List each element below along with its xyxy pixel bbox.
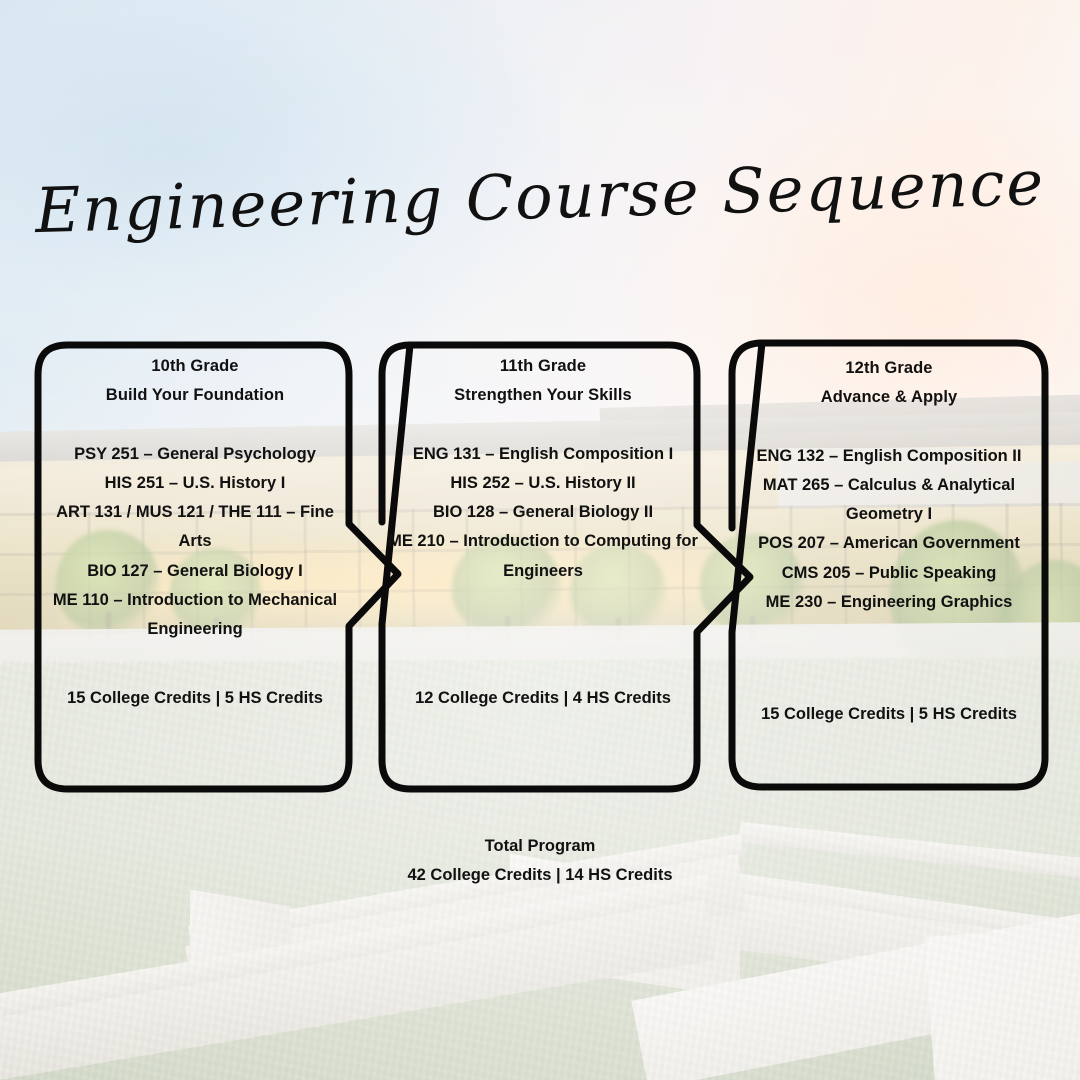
- course-item: ME 230 – Engineering Graphics: [736, 588, 1042, 617]
- stage-3-course-list: ENG 132 – English Composition II MAT 265…: [736, 442, 1042, 617]
- total-program-label: Total Program: [0, 832, 1080, 861]
- total-program-summary: Total Program 42 College Credits | 14 HS…: [0, 832, 1080, 891]
- course-item: POS 207 – American Government: [736, 529, 1042, 558]
- stage-1-tagline: Build Your Foundation: [106, 381, 284, 410]
- course-item: HIS 251 – U.S. History I: [40, 469, 350, 498]
- stage-1-grade: 10th Grade: [106, 352, 284, 381]
- course-item: HIS 252 – U.S. History II: [384, 469, 702, 498]
- course-item: BIO 128 – General Biology II: [384, 498, 702, 527]
- stage-3-grade: 12th Grade: [821, 354, 958, 383]
- course-item: BIO 127 – General Biology I: [40, 557, 350, 586]
- stage-1-credits: 15 College Credits | 5 HS Credits: [40, 689, 350, 708]
- stage-3-heading: 12th Grade Advance & Apply: [821, 354, 958, 412]
- page-title: Engineering Course Sequence: [0, 145, 1080, 248]
- stage-card-11th-grade: 11th Grade Strengthen Your Skills ENG 13…: [384, 352, 702, 586]
- course-item: CMS 205 – Public Speaking: [736, 559, 1042, 588]
- stage-card-10th-grade: 10th Grade Build Your Foundation PSY 251…: [40, 352, 350, 644]
- stage-2-heading: 11th Grade Strengthen Your Skills: [454, 352, 632, 410]
- course-item: ENG 132 – English Composition II: [736, 442, 1042, 471]
- stage-2-credits: 12 College Credits | 4 HS Credits: [384, 689, 702, 708]
- course-item: ME 210 – Introduction to Computing for E…: [384, 527, 702, 585]
- stage-3-credits: 15 College Credits | 5 HS Credits: [736, 705, 1042, 724]
- stage-2-course-list: ENG 131 – English Composition I HIS 252 …: [384, 440, 702, 586]
- stage-1-course-list: PSY 251 – General Psychology HIS 251 – U…: [40, 440, 350, 644]
- stage-1-heading: 10th Grade Build Your Foundation: [106, 352, 284, 410]
- stage-card-12th-grade: 12th Grade Advance & Apply ENG 132 – Eng…: [736, 354, 1042, 617]
- course-item: ME 110 – Introduction to Mechanical Engi…: [40, 586, 350, 644]
- course-item: MAT 265 – Calculus & Analytical Geometry…: [736, 471, 1042, 529]
- stage-2-tagline: Strengthen Your Skills: [454, 381, 632, 410]
- stage-2-grade: 11th Grade: [454, 352, 632, 381]
- stage-3-tagline: Advance & Apply: [821, 383, 958, 412]
- course-item: ENG 131 – English Composition I: [384, 440, 702, 469]
- course-item: ART 131 / MUS 121 / THE 111 – Fine Arts: [40, 498, 350, 556]
- total-program-credits: 42 College Credits | 14 HS Credits: [0, 861, 1080, 890]
- course-item: PSY 251 – General Psychology: [40, 440, 350, 469]
